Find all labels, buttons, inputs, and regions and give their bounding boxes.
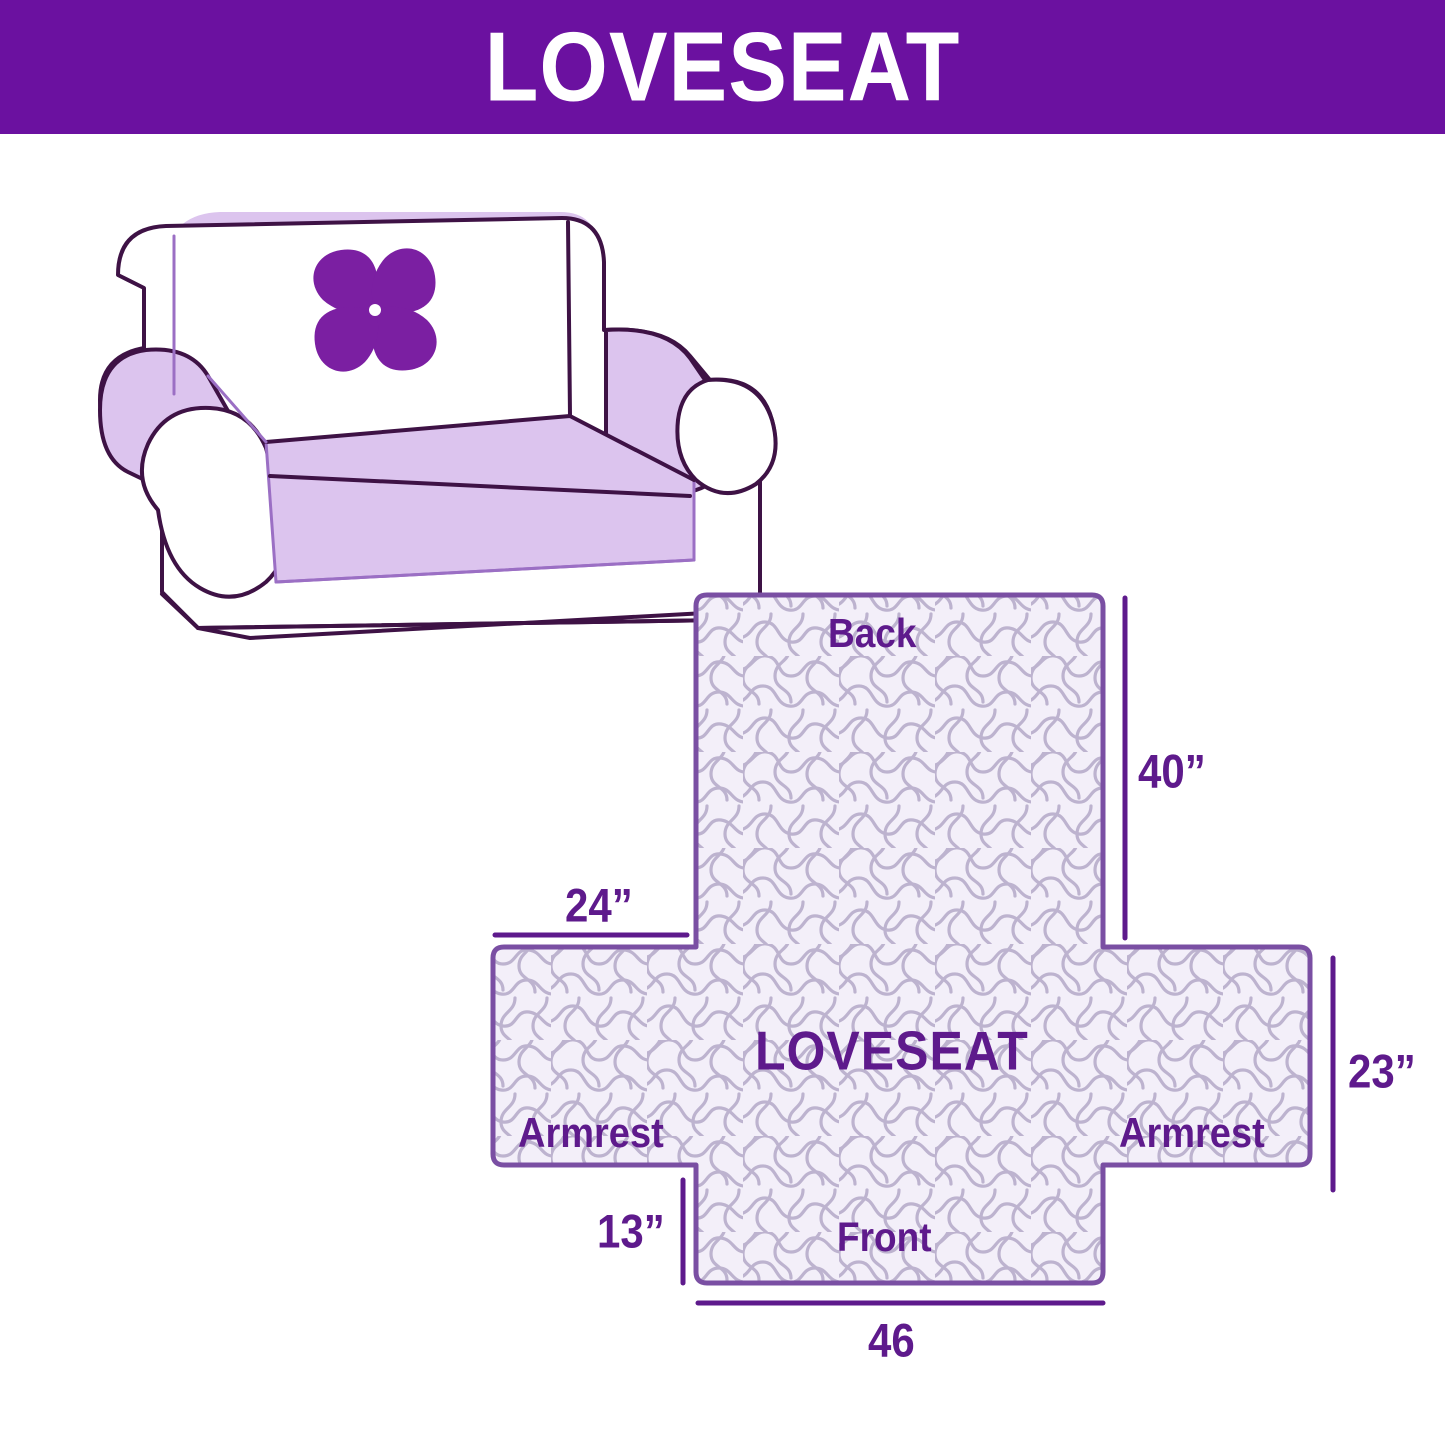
dimension-label-center-height: 23” [1348,1045,1416,1099]
sofa-right-arm-roll [677,380,775,493]
panel-label-armrest-right: Armrest [1119,1111,1265,1158]
sofa-back-right-seam [568,222,570,416]
dimension-label-back-offset: 24” [565,879,633,933]
page-title: LOVESEAT [0,0,1445,142]
slipcover-pattern-diagram: Back LOVESEAT Armrest Armrest Front 40” … [455,560,1445,1360]
panel-label-front: Front [837,1215,932,1261]
panel-label-back: Back [828,611,916,657]
panel-label-armrest-left: Armrest [518,1111,664,1158]
dimension-label-front-width: 46 [868,1314,915,1368]
header-banner: LOVESEAT [0,0,1445,134]
panel-label-center: LOVESEAT [755,1019,1029,1083]
cross-shape-outline [493,595,1310,1283]
dimension-label-front-height: 13” [597,1205,665,1259]
loveseat-size-chart-page: LOVESEAT .ln { fill:none; stroke:#3E1245… [0,0,1445,1445]
fan-hub [369,304,381,316]
dimension-label-back-height: 40” [1138,745,1206,799]
